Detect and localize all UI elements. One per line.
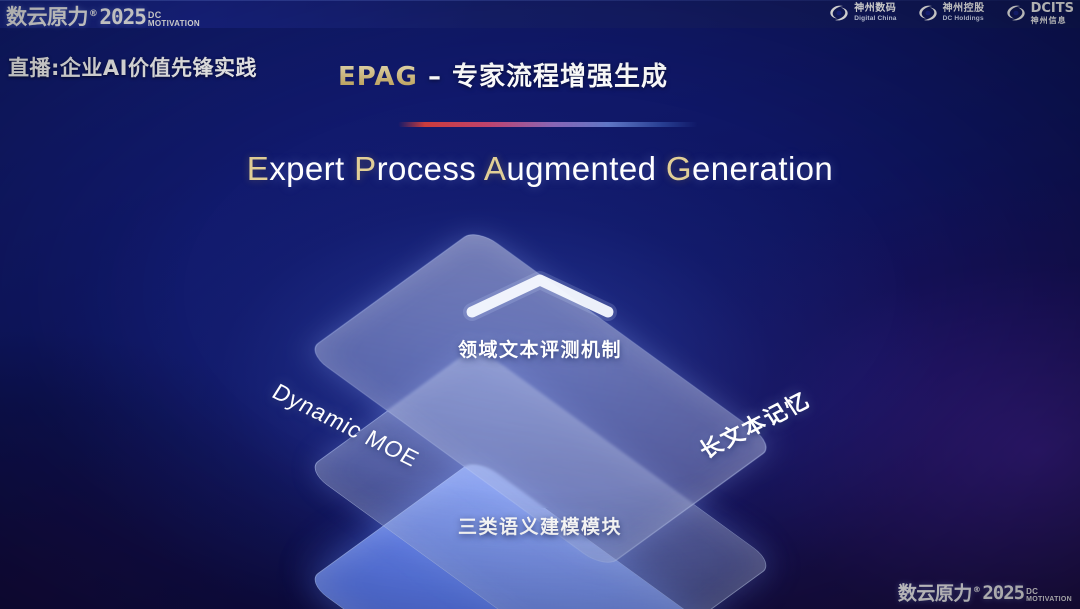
brand-year: 2025 <box>982 583 1024 603</box>
partner-name-en: 神州信息 <box>1031 17 1074 25</box>
gradient-divider <box>398 122 698 127</box>
subtitle-cap-p: P <box>354 150 376 187</box>
page-title: EPAG – 专家流程增强生成 <box>338 56 668 93</box>
subtitle-word-expert: xpert <box>269 150 354 187</box>
brand-logo-top: 数云原力® 2025 DC MOTIVATION <box>6 0 200 28</box>
title-acronym: EPAG <box>338 62 418 92</box>
partner-logo-group: 神州数码 Digital China 神州控股 DC Holdings <box>828 2 1074 25</box>
partner-text: 神州数码 Digital China <box>854 4 896 22</box>
slide-canvas: 数云原力® 2025 DC MOTIVATION 神州数码 Digital Ch… <box>0 0 1080 609</box>
swirl-icon <box>828 3 850 23</box>
title-chinese: 专家流程增强生成 <box>452 62 668 92</box>
subtitle-cap-g: G <box>666 150 692 187</box>
partner-name-en: Digital China <box>854 16 896 23</box>
brand-registered-mark: ® <box>89 9 97 19</box>
subtitle-word-process: rocess <box>377 150 484 187</box>
subtitle-cap-a: A <box>484 150 506 187</box>
partner-text: DCITS 神州信息 <box>1031 2 1074 25</box>
partner-logo-dcits: DCITS 神州信息 <box>1005 2 1074 25</box>
live-stream-title: 直播:企业AI价值先锋实践 <box>8 52 257 82</box>
swirl-icon <box>917 3 939 23</box>
brand-dc-motivation: DC MOTIVATION <box>1026 588 1072 603</box>
brand-dc-line2: MOTIVATION <box>148 20 200 28</box>
title-dash: – <box>418 62 452 92</box>
brand-registered-mark: ® <box>973 585 980 594</box>
brand-dc-motivation: DC MOTIVATION <box>148 11 200 28</box>
partner-name-cn: 神州数码 <box>854 4 896 14</box>
partner-logo-dc-holdings: 神州控股 DC Holdings <box>917 3 985 23</box>
layered-stack-diagram: 领域文本评测机制 Dynamic MOE 长文本记忆 三类语义建模模块 <box>170 222 910 582</box>
partner-name-cn: 神州控股 <box>943 4 985 14</box>
brand-year: 2025 <box>99 6 146 28</box>
subtitle-word-augmented: ugmented <box>506 150 666 187</box>
brand-dc-line1: DC <box>1026 588 1072 596</box>
brand-name-cn: 数云原力® <box>898 580 980 603</box>
swirl-icon <box>1005 3 1027 23</box>
brand-logo-watermark: 数云原力® 2025 DC MOTIVATION <box>898 577 1072 603</box>
partner-logo-digital-china: 神州数码 Digital China <box>828 3 896 23</box>
partner-name-en: DC Holdings <box>943 16 985 23</box>
layer-label-bottom: 三类语义建模模块 <box>458 512 622 539</box>
brand-dc-line2: MOTIVATION <box>1026 596 1072 603</box>
partner-name-cn: DCITS <box>1031 2 1074 15</box>
layer-label-top: 领域文本评测机制 <box>458 335 622 362</box>
subtitle-cap-e: E <box>247 150 269 187</box>
brand-name-cn: 数云原力® <box>6 3 97 28</box>
subtitle-word-generation: eneration <box>692 150 833 187</box>
chevron-up-icon <box>462 268 618 322</box>
page-subtitle: Expert Process Augmented Generation <box>0 150 1080 188</box>
partner-text: 神州控股 DC Holdings <box>943 4 985 22</box>
